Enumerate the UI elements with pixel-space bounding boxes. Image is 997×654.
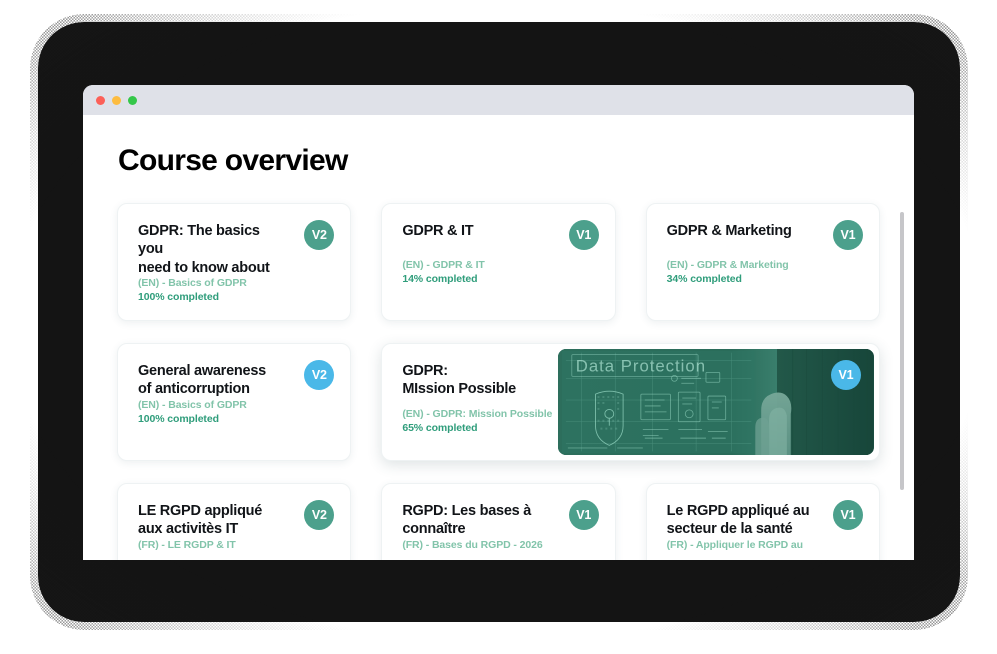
course-title: Le RGPD appliqué au secteur de la santé [667, 502, 859, 539]
course-version-badge: V1 [833, 500, 863, 530]
course-meta: (FR) - Bases du RGPD - 2026 [402, 539, 594, 560]
course-card-content: RGPD: Les bases à connaître(FR) - Bases … [402, 502, 594, 560]
course-progress-label: 100% completed [138, 413, 330, 427]
course-title: GDPR: MIssion Possible [402, 362, 558, 399]
course-progress-label: 65% completed [402, 422, 558, 436]
course-card-content: General awareness of anticorruption(EN) … [138, 362, 330, 437]
course-card-content: GDPR & Marketing(EN) - GDPR & Marketing3… [667, 222, 859, 297]
course-title: General awareness of anticorruption [138, 362, 330, 399]
minimize-icon[interactable] [112, 96, 121, 105]
course-title: GDPR & IT [402, 222, 594, 259]
course-progress-label: 14% completed [402, 273, 594, 287]
course-card-grid: GDPR: The basics you need to know about(… [117, 203, 880, 560]
course-subtitle: (EN) - GDPR & IT [402, 259, 594, 273]
course-meta: (FR) - LE RGDP & IT [138, 539, 330, 560]
course-title: GDPR & Marketing [667, 222, 859, 259]
course-meta: (EN) - GDPR & IT14% completed [402, 259, 594, 297]
course-meta: (EN) - Basics of GDPR100% completed [138, 399, 330, 437]
course-subtitle: (FR) - Appliquer le RGPD au [667, 539, 859, 553]
course-card[interactable]: Le RGPD appliqué au secteur de la santé(… [646, 483, 880, 560]
course-version-badge: V1 [833, 220, 863, 250]
course-progress-label: 34% completed [667, 273, 859, 287]
page-title: Course overview [118, 144, 880, 178]
course-subtitle: (FR) - LE RGDP & IT [138, 539, 330, 553]
course-title: RGPD: Les bases à connaître [402, 502, 594, 539]
svg-text:Data Protection: Data Protection [576, 356, 706, 375]
course-card[interactable]: LE RGPD appliqué aux activitès IT(FR) - … [117, 483, 351, 560]
course-card[interactable]: RGPD: Les bases à connaître(FR) - Bases … [381, 483, 615, 560]
course-card-content: GDPR: MIssion Possible(EN) - GDPR: Missi… [382, 362, 558, 446]
page-viewport: Course overview GDPR: The basics you nee… [83, 115, 914, 560]
close-icon[interactable] [96, 96, 105, 105]
course-card[interactable]: GDPR: The basics you need to know about(… [117, 203, 351, 321]
course-title: LE RGPD appliqué aux activitès IT [138, 502, 330, 539]
course-card-content: LE RGPD appliqué aux activitès IT(FR) - … [138, 502, 330, 560]
maximize-icon[interactable] [128, 96, 137, 105]
window-titlebar [83, 85, 914, 115]
course-meta: (FR) - Appliquer le RGPD au [667, 539, 859, 560]
scrollbar-thumb[interactable] [900, 212, 904, 490]
course-card[interactable]: GDPR & IT(EN) - GDPR & IT14% completedV1 [381, 203, 615, 321]
course-title: GDPR: The basics you need to know about [138, 222, 330, 277]
course-card[interactable]: GDPR: MIssion Possible(EN) - GDPR: Missi… [381, 343, 880, 461]
course-card-content: GDPR & IT(EN) - GDPR & IT14% completed [402, 222, 594, 297]
course-card[interactable]: GDPR & Marketing(EN) - GDPR & Marketing3… [646, 203, 880, 321]
browser-window: Course overview GDPR: The basics you nee… [83, 85, 914, 560]
course-card[interactable]: General awareness of anticorruption(EN) … [117, 343, 351, 461]
course-subtitle: (EN) - GDPR & Marketing [667, 259, 859, 273]
course-subtitle: (EN) - Basics of GDPR [138, 399, 330, 413]
course-progress-label: 100% completed [138, 291, 330, 305]
data-protection-illustration: Data Protection [558, 349, 874, 455]
course-card-content: Le RGPD appliqué au secteur de la santé(… [667, 502, 859, 560]
course-meta: (EN) - GDPR & Marketing34% completed [667, 259, 859, 297]
course-meta: (EN) - Basics of GDPR100% completed [138, 277, 330, 315]
course-subtitle: (EN) - Basics of GDPR [138, 277, 330, 291]
course-version-badge: V1 [831, 360, 861, 390]
course-version-badge: V1 [569, 500, 599, 530]
course-hero-image: Data Protection [558, 349, 874, 455]
course-version-badge: V1 [569, 220, 599, 250]
screenshot-stage: Course overview GDPR: The basics you nee… [0, 0, 997, 654]
course-subtitle: (FR) - Bases du RGPD - 2026 [402, 539, 594, 553]
course-meta: (EN) - GDPR: Mission Possible65% complet… [402, 408, 558, 446]
course-card-content: GDPR: The basics you need to know about(… [138, 222, 330, 315]
course-subtitle: (EN) - GDPR: Mission Possible [402, 408, 558, 422]
